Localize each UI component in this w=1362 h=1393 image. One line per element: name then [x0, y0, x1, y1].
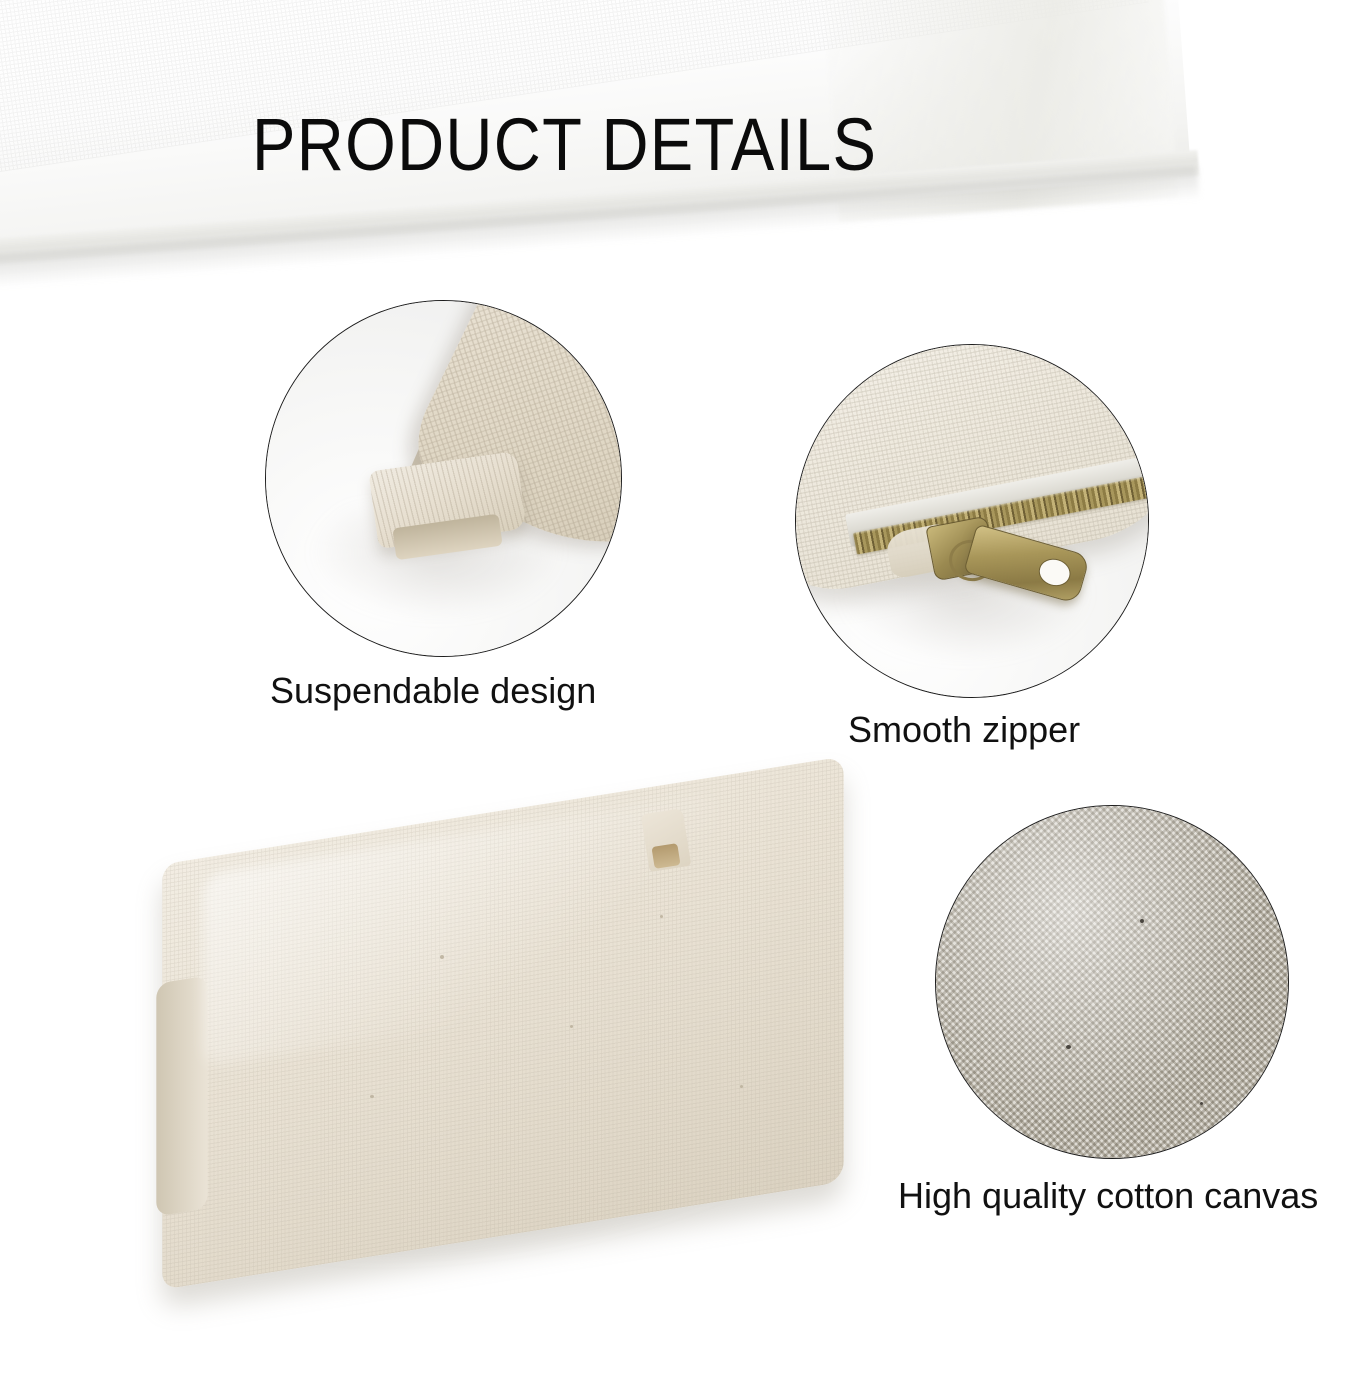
detail-circle-suspendable	[265, 300, 622, 657]
fabric-speck	[440, 955, 444, 959]
fabric-speck	[660, 915, 663, 918]
caption-smooth-zipper: Smooth zipper	[848, 712, 1080, 748]
pouch-loop-tab-opening	[651, 843, 680, 869]
fabric-speck	[370, 1095, 374, 1098]
weave-sheen	[936, 806, 1288, 1158]
detail-circle-zipper	[795, 344, 1149, 698]
pouch-side-seam	[156, 975, 207, 1216]
fabric-speck	[570, 1025, 573, 1028]
fabric-fleck	[1200, 1102, 1203, 1105]
fabric-speck	[740, 1085, 743, 1088]
product-photo-pouch	[140, 795, 880, 1295]
caption-high-quality-cotton-canvas: High quality cotton canvas	[898, 1178, 1318, 1214]
page-title: PRODUCT DETAILS	[252, 108, 877, 182]
fabric-fleck	[1140, 919, 1144, 923]
detail-circle-cotton-canvas	[935, 805, 1289, 1159]
caption-suspendable-design: Suspendable design	[270, 673, 596, 709]
zipper-pull-hole	[1036, 555, 1074, 590]
